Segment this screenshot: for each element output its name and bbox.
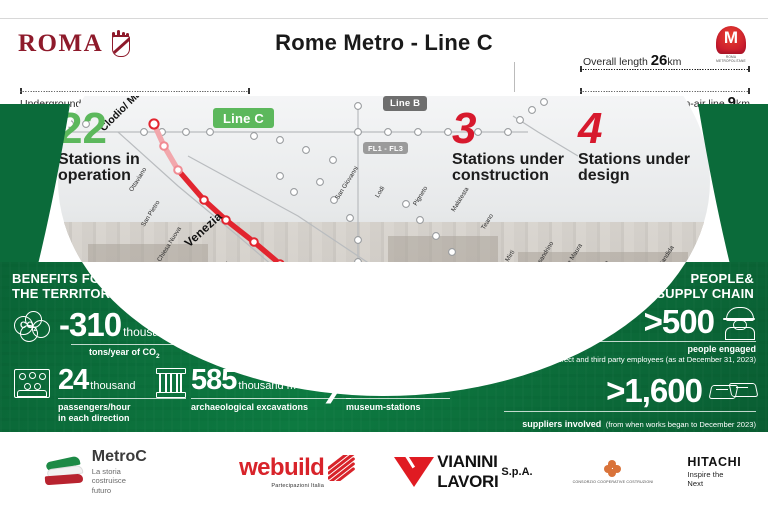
passengers-value: 24: [58, 366, 88, 395]
stat-stations-in-operation: 22 Stations in operation: [58, 108, 140, 185]
stat-4-label: Stations under design: [578, 152, 690, 185]
webuild-swirl-icon: [328, 455, 356, 481]
webuild-title: webuild: [239, 456, 324, 480]
ccc-caption: CONSORZIO COOPERATIVE COSTRUZIONI: [573, 480, 654, 484]
roma-metropolitane-logo: ROMA METROPOLITANE: [712, 26, 750, 66]
vianini-title: VIANINI LAVORI: [437, 452, 498, 492]
passengers-icon: [12, 366, 52, 400]
benefits-heading: BENEFITS FOR THE TERRITORY: [12, 272, 119, 301]
co2-unit: thousand: [123, 325, 172, 339]
stat-22-label-line1: Stations in: [58, 152, 140, 169]
benefits-heading-line2: THE TERRITORY: [12, 287, 119, 302]
logo-vianini[interactable]: VIANINI LAVORI S.p.A.: [394, 452, 532, 492]
stat-3-label-line2: construction: [452, 168, 564, 185]
passengers-unit: thousand: [90, 380, 135, 392]
passengers-caption-line2: in each direction: [58, 413, 186, 424]
stat-22-value: 22: [58, 108, 140, 150]
footer-logo-bar: MetroC La storia costruisce futuro webui…: [0, 432, 768, 512]
vianini-triangle-icon: [394, 457, 434, 487]
museum-value: 4: [346, 366, 361, 395]
metroc-title: MetroC: [92, 449, 147, 465]
header-divider: [0, 18, 768, 19]
co2-value: -310: [59, 308, 121, 341]
co2-stat: CO2 -310 thousand tons/year of CO2: [12, 308, 223, 361]
stat-3-value: 3: [452, 108, 564, 150]
overall-length-bar: [580, 66, 750, 72]
openair-value: 9: [728, 94, 736, 111]
stat-4-value: 4: [578, 108, 690, 150]
excavations-value: 585: [191, 366, 236, 395]
chevron-right-icon: ❯: [322, 366, 340, 414]
metro-m-icon: [716, 26, 746, 54]
suppliers-stat: >1,600 suppliers involved (from when wor…: [504, 374, 756, 432]
co2-caption: tons/year of CO: [89, 347, 156, 357]
handshake-icon: [710, 378, 756, 404]
supply-heading-line2: SUPPLY CHAIN: [656, 287, 754, 302]
underground-length-bar: [20, 88, 250, 94]
vianini-sub: S.p.A.: [501, 466, 532, 478]
hitachi-title: HITACHI: [687, 456, 741, 469]
excavations-unit: thousand m³: [238, 380, 299, 392]
museum-stations-stat: ❯ 4 museum-stations: [322, 366, 450, 414]
line-c-chip-left: Line C: [213, 108, 274, 128]
ccc-flower-icon: [604, 460, 621, 477]
column-icon: [155, 366, 185, 398]
suppliers-note: (from when works began to December 2023): [606, 420, 756, 429]
stat-stations-under-design: 4 Stations under design: [578, 108, 690, 185]
museum-caption: museum-stations: [346, 402, 450, 413]
suppliers-caption: suppliers involved: [522, 419, 601, 429]
stat-stations-under-construction: 3 Stations under construction: [452, 108, 564, 185]
people-note: direct and third party employees (as at …: [556, 355, 757, 364]
fl-lines-chip: FL1 - FL3: [363, 142, 408, 154]
stat-3-label: Stations under construction: [452, 152, 564, 185]
people-value: >500: [644, 305, 714, 338]
co2-cloud-icon: CO2: [12, 310, 52, 344]
logo-metroc[interactable]: MetroC La storia costruisce futuro: [44, 449, 147, 494]
measure-divider: [514, 62, 515, 92]
metroc-sub-line2: costruisce futuro: [92, 476, 147, 494]
infographic-root: ROMA Rome Metro - Line C ROMA METROPOLIT…: [0, 0, 768, 512]
openair-length-bar: [580, 88, 750, 94]
co2-caption-sub: 2: [156, 353, 160, 360]
supply-heading: PEOPLE& SUPPLY CHAIN: [656, 272, 754, 301]
benefits-heading-line1: BENEFITS FOR: [12, 272, 119, 287]
metroc-sub-line1: La storia: [92, 467, 147, 476]
stat-3-label-line1: Stations under: [452, 152, 564, 169]
stat-4-label-line2: design: [578, 168, 690, 185]
openair-unit: km: [736, 98, 750, 110]
stat-22-label-line2: operation: [58, 168, 140, 185]
people-caption: people engaged: [556, 344, 757, 355]
stat-22-label: Stations in operation: [58, 152, 140, 185]
logo-ccc[interactable]: CONSORZIO COOPERATIVE COSTRUZIONI: [573, 460, 654, 484]
suppliers-caption-row: suppliers involved (from when works bega…: [504, 414, 756, 432]
logo-webuild[interactable]: webuild Partecipazioni Italia: [239, 455, 356, 489]
metro-logo-caption: ROMA METROPOLITANE: [712, 55, 750, 63]
people-engaged-stat: >500 people engaged direct and third par…: [556, 304, 757, 364]
stat-4-label-line1: Stations under: [578, 152, 690, 169]
hitachi-tagline: Inspire the Next: [687, 470, 741, 488]
line-b-chip: Line B: [383, 96, 427, 111]
logo-hitachi[interactable]: HITACHI Inspire the Next: [687, 456, 741, 488]
suppliers-value: >1,600: [606, 374, 702, 407]
webuild-sub: Partecipazioni Italia: [271, 483, 324, 489]
worker-helmet-icon: [722, 304, 756, 338]
supply-heading-line1: PEOPLE&: [656, 272, 754, 287]
metroc-mark-icon: [44, 456, 86, 488]
